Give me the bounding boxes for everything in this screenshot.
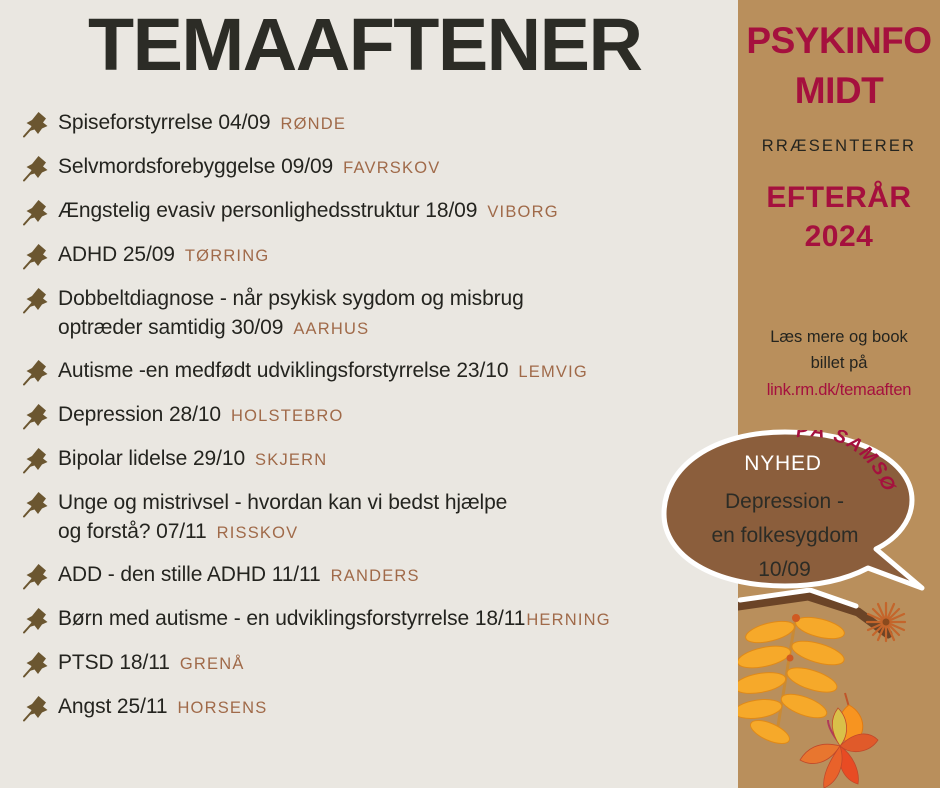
pushpin-icon <box>22 198 52 226</box>
booking-info-line1: Læs mere og book <box>738 325 940 351</box>
list-item[interactable]: PTSD 18/11GRENÅ <box>22 648 742 678</box>
pushpin-icon <box>22 110 52 138</box>
event-text: Angst 25/11HORSENS <box>58 692 742 722</box>
brand-name-line2: MIDT <box>738 72 940 109</box>
pushpin-icon <box>22 490 52 518</box>
list-item[interactable]: Ængstelig evasiv personlighedsstruktur 1… <box>22 196 742 226</box>
event-text: Bipolar lidelse 29/10SKJERN <box>58 444 742 474</box>
list-item[interactable]: ADHD 25/09TØRRING <box>22 240 742 270</box>
red-palmate-leaf <box>800 708 878 788</box>
list-item[interactable]: Depression 28/10HOLSTEBRO <box>22 400 742 430</box>
event-city: RØNDE <box>280 115 346 133</box>
event-city: FAVRSKOV <box>343 159 440 177</box>
list-item[interactable]: Angst 25/11HORSENS <box>22 692 742 722</box>
list-item[interactable]: Selvmordsforebyggelse 09/09FAVRSKOV <box>22 152 742 182</box>
event-city: TØRRING <box>185 247 269 265</box>
event-list: Spiseforstyrrelse 04/09RØNDE Selvmordsfo… <box>22 108 742 736</box>
event-city: SKJERN <box>255 451 327 469</box>
event-text: Spiseforstyrrelse 04/09RØNDE <box>58 108 742 138</box>
list-item[interactable]: Børn med autisme - en udviklingsforstyrr… <box>22 604 742 634</box>
list-item[interactable]: Bipolar lidelse 29/10SKJERN <box>22 444 742 474</box>
bubble-badge: NYHED <box>723 452 843 476</box>
sidebar-panel: PSYKINFO MIDT RRÆSENTERER EFTERÅR 2024 L… <box>738 0 940 788</box>
list-item[interactable]: Unge og mistrivsel - hvordan kan vi beds… <box>22 488 742 546</box>
event-city: RISSKOV <box>217 524 299 542</box>
booking-info-line2: billet på <box>738 351 940 377</box>
event-city: RANDERS <box>331 567 420 585</box>
news-speech-bubble[interactable]: PÅ SAMSØ NYHED Depression - en folkesygd… <box>660 428 940 628</box>
brand-name-line1: PSYKINFO <box>738 22 940 59</box>
bubble-line3: 10/09 <box>682 558 887 582</box>
pushpin-icon <box>22 154 52 182</box>
event-text: Dobbeltdiagnose - når psykisk sygdom og … <box>58 284 742 342</box>
event-text: Autisme -en medfødt udviklingsforstyrrel… <box>58 356 742 386</box>
bubble-line1: Depression - <box>682 490 887 514</box>
pushpin-icon <box>22 606 52 634</box>
season-label-line1: EFTERÅR <box>738 183 940 213</box>
pushpin-icon <box>22 402 52 430</box>
event-city: AARHUS <box>293 320 369 338</box>
list-item[interactable]: Dobbeltdiagnose - når psykisk sygdom og … <box>22 284 742 342</box>
event-city: HERNING <box>526 611 611 629</box>
pushpin-icon <box>22 446 52 474</box>
event-city: GRENÅ <box>180 655 245 673</box>
page-title: TEMAAFTENER <box>88 8 641 82</box>
booking-link[interactable]: link.rm.dk/temaaften <box>738 378 940 404</box>
event-city: LEMVIG <box>518 363 588 381</box>
event-city: HOLSTEBRO <box>231 407 344 425</box>
event-text: ADHD 25/09TØRRING <box>58 240 742 270</box>
event-text: Ængstelig evasiv personlighedsstruktur 1… <box>58 196 742 226</box>
pushpin-icon <box>22 694 52 722</box>
season-year: 2024 <box>738 222 940 252</box>
pushpin-icon <box>22 650 52 678</box>
event-city: VIBORG <box>487 203 558 221</box>
event-text: ADD - den stille ADHD 11/11RANDERS <box>58 560 742 590</box>
list-item[interactable]: ADD - den stille ADHD 11/11RANDERS <box>22 560 742 590</box>
event-text: Børn med autisme - en udviklingsforstyrr… <box>58 604 742 634</box>
bubble-line2: en folkesygdom <box>676 524 894 548</box>
presenter-label: RRÆSENTERER <box>738 137 940 156</box>
pushpin-icon <box>22 562 52 590</box>
event-text: Unge og mistrivsel - hvordan kan vi beds… <box>58 488 742 546</box>
pushpin-icon <box>22 242 52 270</box>
event-text: Selvmordsforebyggelse 09/09FAVRSKOV <box>58 152 742 182</box>
event-city: HORSENS <box>177 699 267 717</box>
event-text: PTSD 18/11GRENÅ <box>58 648 742 678</box>
pushpin-icon <box>22 358 52 386</box>
poster-canvas: PSYKINFO MIDT RRÆSENTERER EFTERÅR 2024 L… <box>0 0 940 788</box>
event-text: Depression 28/10HOLSTEBRO <box>58 400 742 430</box>
list-item[interactable]: Spiseforstyrrelse 04/09RØNDE <box>22 108 742 138</box>
pushpin-icon <box>22 286 52 314</box>
list-item[interactable]: Autisme -en medfødt udviklingsforstyrrel… <box>22 356 742 386</box>
